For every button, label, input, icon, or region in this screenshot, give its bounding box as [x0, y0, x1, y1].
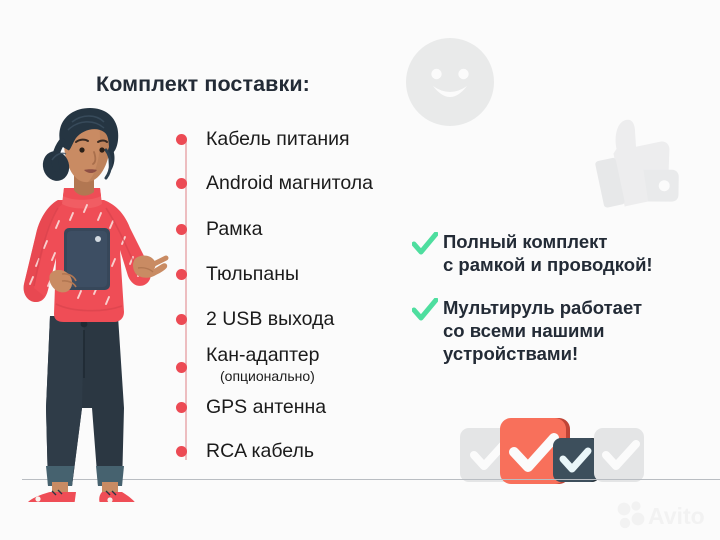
page-title: Комплект поставки:: [96, 72, 310, 97]
checkbox-tile-red: [500, 418, 566, 484]
list-item-label: GPS антенна: [206, 396, 326, 419]
list-item-sublabel: (опционально): [220, 368, 320, 385]
benefit-text: Мультируль работает со всеми нашими устр…: [443, 296, 642, 365]
benefit-item: Полный комплект с рамкой и проводкой!: [412, 230, 653, 276]
list-item: Кабель питания: [176, 128, 350, 151]
promo-canvas: Комплект поставки: Кабель питания Androi…: [0, 0, 720, 540]
list-item: GPS антенна: [176, 396, 326, 419]
bullet-dot: [176, 178, 187, 189]
list-item: Тюльпаны: [176, 263, 299, 286]
list-item: Android магнитола: [176, 172, 373, 195]
woman-pointing-illustration: [6, 108, 186, 502]
bullet-dot: [176, 314, 187, 325]
bullet-dot: [176, 224, 187, 235]
avito-watermark: Avito: [616, 498, 716, 532]
benefit-line: устройствами!: [443, 342, 642, 365]
list-item-label: RCA кабель: [206, 440, 314, 463]
benefit-item: Мультируль работает со всеми нашими устр…: [412, 296, 642, 365]
check-icon: [412, 232, 438, 256]
checkbox-tile-grey-left: [460, 428, 514, 482]
list-item-label: Тюльпаны: [206, 263, 299, 286]
bullet-dot: [176, 446, 187, 457]
list-item: 2 USB выхода: [176, 308, 334, 331]
benefit-line: со всеми нашими: [443, 319, 642, 342]
list-item-label: Кан-адаптер: [206, 344, 320, 367]
benefit-line: с рамкой и проводкой!: [443, 253, 653, 276]
list-item: Рамка: [176, 218, 262, 241]
list-item-label: Рамка: [206, 218, 262, 241]
list-item-label: Android магнитола: [206, 172, 373, 195]
list-item-label: Кабель питания: [206, 128, 350, 151]
checkbox-tile-dark: [553, 438, 597, 482]
list-item: RCA кабель: [176, 440, 314, 463]
thumbs-up-icon: [578, 112, 686, 216]
avito-watermark-text: Avito: [648, 503, 705, 529]
benefit-line: Мультируль работает: [443, 296, 642, 319]
benefit-text: Полный комплект с рамкой и проводкой!: [443, 230, 653, 276]
check-icon: [412, 298, 438, 322]
bullet-dot: [176, 269, 187, 280]
bullet-dot: [176, 134, 187, 145]
smiley-face-icon: [404, 36, 496, 128]
bullet-dot: [176, 402, 187, 413]
bullet-dot: [176, 362, 187, 373]
benefit-line: Полный комплект: [443, 230, 653, 253]
checkbox-tile-grey-right: [594, 428, 644, 482]
list-item-label: 2 USB выхода: [206, 308, 334, 331]
list-item: Кан-адаптер (опционально): [176, 344, 320, 385]
